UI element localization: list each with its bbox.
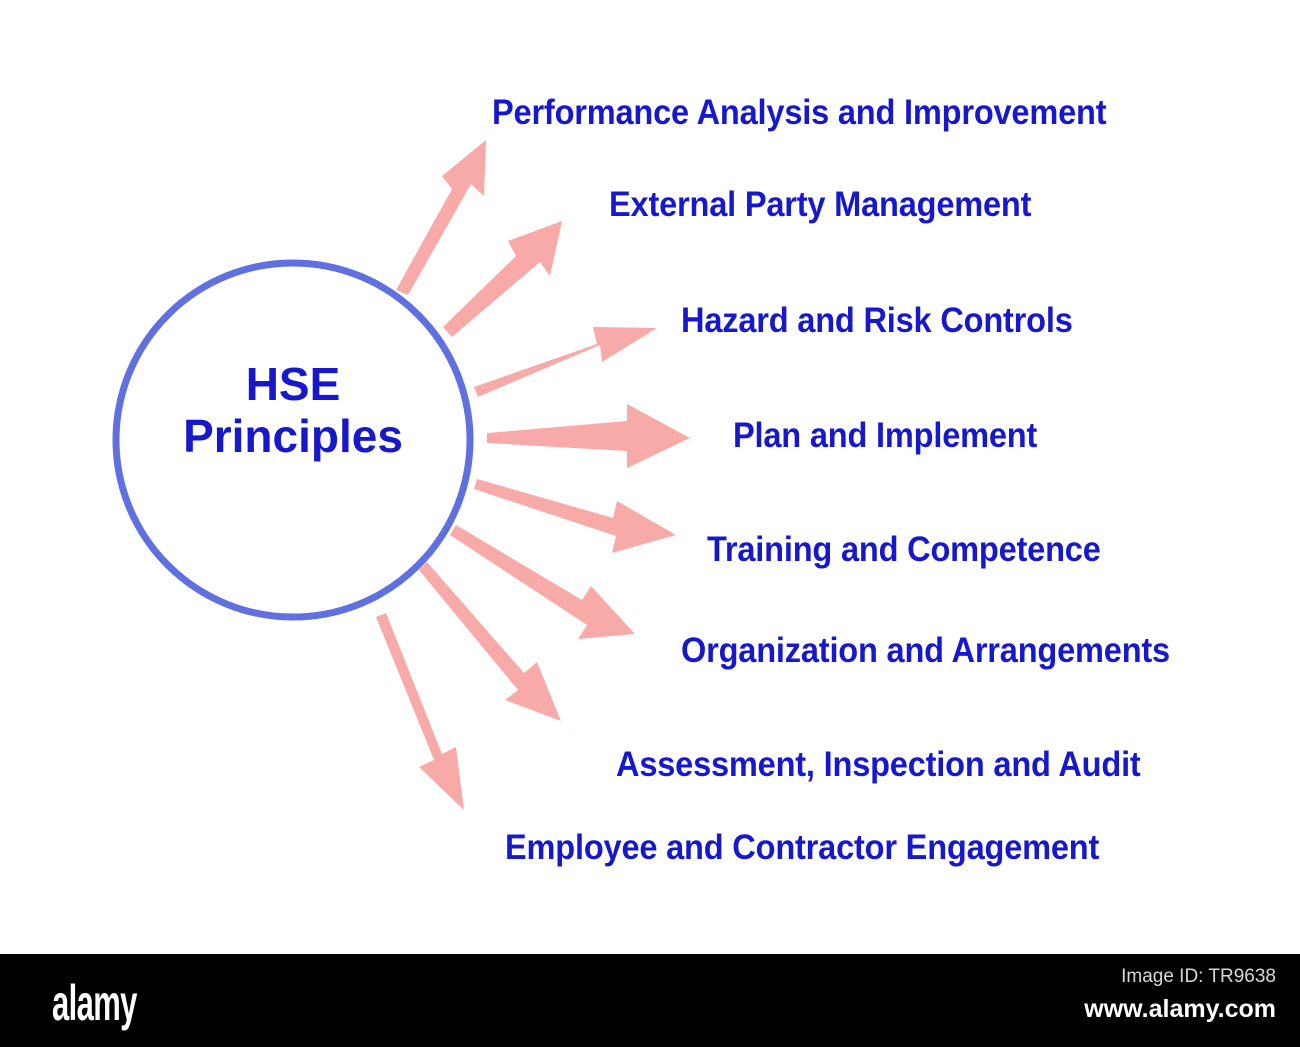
branch-label-7: Assessment, Inspection and Audit	[616, 747, 1141, 782]
branch-label-2: External Party Management	[609, 187, 1031, 222]
arrow-branch-2	[443, 221, 562, 337]
branch-label-5: Training and Competence	[707, 532, 1101, 567]
watermark-footer: alamy Image ID: TR9638 www.alamy.com	[0, 954, 1300, 1047]
image-id-text: Image ID: TR9638	[1121, 966, 1276, 988]
arrow-branch-8	[376, 613, 464, 810]
diagram-canvas: HSE Principles Performance Analysis and …	[0, 0, 1300, 1047]
branch-label-4: Plan and Implement	[733, 418, 1037, 453]
arrow-branch-1	[396, 140, 486, 295]
alamy-logo: alamy	[52, 974, 137, 1032]
arrow-branch-5	[474, 479, 676, 553]
hub-label: HSE Principles	[115, 358, 471, 463]
branch-label-6: Organization and Arrangements	[681, 633, 1170, 668]
arrow-branch-4	[487, 404, 690, 468]
alamy-url: www.alamy.com	[1084, 995, 1276, 1024]
branch-label-3: Hazard and Risk Controls	[681, 303, 1073, 338]
branch-label-8: Employee and Contractor Engagement	[505, 830, 1099, 865]
diagram-graphics	[0, 0, 1300, 954]
arrow-branch-3	[474, 327, 657, 397]
branch-label-1: Performance Analysis and Improvement	[492, 95, 1106, 130]
